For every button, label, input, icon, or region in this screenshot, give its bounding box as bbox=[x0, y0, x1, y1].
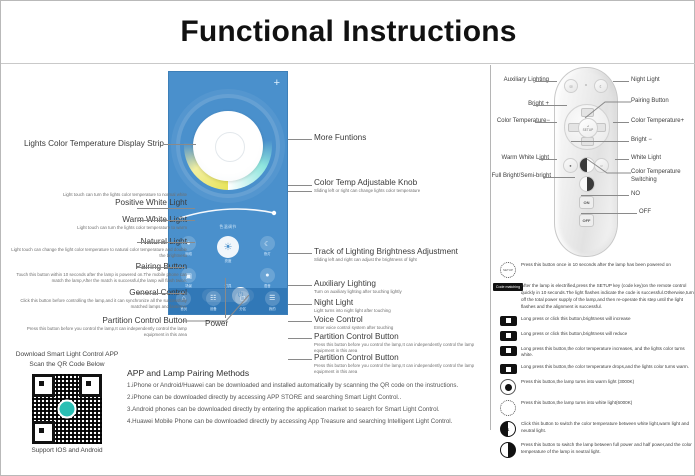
callout-night-light: Night Light Light turns into night light… bbox=[314, 298, 494, 314]
remote-label-bright-minus: Bright − bbox=[631, 137, 652, 145]
setup-circle-icon: SETUP bbox=[500, 262, 516, 278]
callout-sub: Light touch can change the light color t… bbox=[7, 247, 187, 259]
app-pairing-item: 3.Android phones can be downloaded direc… bbox=[127, 406, 477, 415]
qr-code-image[interactable] bbox=[32, 374, 102, 444]
callout-title: Partition Control Button bbox=[314, 353, 494, 363]
phone-icon-label: 亮度 bbox=[225, 259, 232, 263]
leader-line bbox=[288, 359, 312, 360]
leader-line bbox=[288, 253, 312, 254]
legend-text: Long press or click this button,brightne… bbox=[521, 315, 631, 323]
legend-text: Press this button once in 10 seconds aft… bbox=[521, 261, 671, 269]
leader-line bbox=[137, 267, 185, 268]
menu-icon: ☰ bbox=[265, 291, 280, 306]
key-icon bbox=[500, 346, 517, 356]
legend-item-switch-color-temperature: K Click this button to switch the color … bbox=[495, 420, 695, 437]
title-bar: Functional Instructions bbox=[1, 1, 695, 64]
remote-on-button[interactable]: ON bbox=[579, 196, 594, 209]
callout-title: Positive White Light bbox=[7, 198, 187, 208]
half-circle-k-icon: K bbox=[500, 421, 516, 437]
leader-line bbox=[288, 139, 312, 140]
key-icon bbox=[500, 331, 517, 341]
qr-head-line-2: Scan the QR Code Below bbox=[15, 360, 119, 370]
legend-icon-cell bbox=[495, 363, 521, 374]
legend-text: Long press this button,the color tempera… bbox=[521, 363, 689, 371]
legend-item-code-matching: Code matching After the lamp is electrif… bbox=[495, 282, 695, 311]
key-icon bbox=[500, 364, 517, 374]
page-title: Functional Instructions bbox=[180, 15, 516, 49]
callout-title: Night Light bbox=[314, 298, 494, 308]
callout-sub: Press this button before you control the… bbox=[7, 326, 187, 338]
key-icon bbox=[500, 316, 517, 326]
plus-icon[interactable]: + bbox=[274, 78, 280, 89]
legend-icon-cell bbox=[495, 330, 521, 341]
callout-sub: Touch this button within 10 seconds afte… bbox=[7, 272, 187, 284]
qr-finder-bottom-left bbox=[32, 421, 55, 444]
instruction-sheet: Functional Instructions + bbox=[0, 0, 695, 476]
qr-block: Download Smart Light Control APP Scan th… bbox=[15, 350, 119, 454]
phone-icon-label: 夜灯 bbox=[264, 252, 271, 256]
callout-more-funtions: More Funtions bbox=[314, 133, 484, 143]
remote-label-no: NO bbox=[631, 191, 640, 199]
legend-icon-cell bbox=[495, 441, 521, 458]
leader-line bbox=[288, 285, 312, 286]
tab-menu[interactable]: ☰ 我的 bbox=[258, 291, 288, 311]
tab-label: 我的 bbox=[269, 307, 276, 311]
callout-sub: Sliding left and right can adjust the br… bbox=[314, 257, 494, 263]
callout-positive-white-light: Light touch can turn the lights color te… bbox=[7, 192, 187, 208]
remote-led-indicator bbox=[585, 84, 587, 86]
legend-text: Click this button to switch the color te… bbox=[521, 420, 695, 435]
color-temp-knob[interactable] bbox=[180, 98, 276, 194]
legend-icon-cell bbox=[495, 378, 521, 395]
remote-night-light-button[interactable]: ☾ bbox=[594, 79, 608, 93]
leader-line bbox=[571, 141, 629, 142]
leader-line bbox=[613, 81, 629, 82]
legend-item-setup-button: SETUP Press this button once in 10 secon… bbox=[495, 261, 695, 278]
remote-label-off: OFF bbox=[639, 209, 651, 217]
callout-partition-control-button-1: Partition Control Button Press this butt… bbox=[314, 332, 494, 354]
legend-text: Press this button to switch the lamp bet… bbox=[521, 441, 695, 456]
leader-line bbox=[137, 293, 185, 294]
legend-item-brightness-reduce: Long press or click this button,brightne… bbox=[495, 330, 695, 341]
callout-title: Voice Control bbox=[314, 315, 494, 325]
knob-inner-ring bbox=[215, 132, 245, 162]
legend-item-color-temperature-drop: Long press this button,the color tempera… bbox=[495, 363, 695, 374]
legend-item-brightness-increase: Long press or click this button,brightne… bbox=[495, 315, 695, 326]
remote-full-bright-semi-bright-button[interactable] bbox=[579, 176, 595, 192]
callout-title: Partition Control Button bbox=[7, 316, 187, 326]
app-pairing-methods: APP and Lamp Pairing Methods 1.iPhone or… bbox=[127, 368, 477, 430]
legend-icon-cell bbox=[495, 345, 521, 356]
leader-line bbox=[288, 185, 312, 186]
callout-lights-color-temperature-display-strip: Lights Color Temperature Display Strip bbox=[9, 139, 164, 149]
callout-title: Lights Color Temperature Display Strip bbox=[9, 139, 164, 149]
callout-voice-control: Voice Control Enter voice control system… bbox=[314, 315, 494, 331]
filled-circle-icon bbox=[500, 379, 516, 395]
legend-icon-cell: K bbox=[495, 420, 521, 437]
legend-item-switch-full-half-power: Press this button to switch the lamp bet… bbox=[495, 441, 695, 458]
callout-track-of-lighting-brightness-adjustment: Track of Lighting Brightness Adjustment … bbox=[314, 247, 494, 263]
legend-list: SETUP Press this button once in 10 secon… bbox=[495, 261, 695, 462]
legend-text: Press this button,the lamp turns into wh… bbox=[521, 399, 632, 407]
callout-general-control: General Control Click this button before… bbox=[7, 288, 187, 310]
phone-icon-sun[interactable]: ☀ 亮度 bbox=[213, 236, 243, 263]
callout-natural-light: Natural Light Light touch can change the… bbox=[7, 237, 187, 259]
callout-sub: Light turns into night light after touch… bbox=[314, 308, 494, 314]
leader-line bbox=[535, 81, 557, 82]
leader-line bbox=[137, 220, 195, 221]
remote-warm-white-light-button[interactable]: ● bbox=[563, 158, 578, 173]
sun-icon: ☀ bbox=[217, 236, 239, 258]
remote-label-color-temperature-switching: Color Temperature Switching bbox=[631, 169, 681, 184]
callout-warm-white-light: Warm White Light Light touch can turn th… bbox=[7, 215, 187, 231]
leader-line bbox=[225, 278, 226, 318]
app-pairing-item: 1.iPhone or Android/Huawei can be downlo… bbox=[127, 382, 477, 391]
leader-line bbox=[581, 195, 629, 196]
setup-label: SETUP bbox=[583, 128, 594, 132]
app-pairing-heading: APP and Lamp Pairing Methods bbox=[127, 368, 477, 378]
remote-label-color-temperature-plus: Color Temperature+ bbox=[631, 118, 684, 126]
qr-foot: Support IOS and Android bbox=[15, 447, 119, 454]
leader-line bbox=[613, 122, 629, 123]
phone-icon-moon[interactable]: ☾ 夜灯 bbox=[252, 236, 282, 263]
app-pairing-item: 2.iPhone can be downloaded directly by a… bbox=[127, 394, 477, 403]
leader-line bbox=[581, 213, 637, 214]
leader-line bbox=[288, 338, 312, 339]
qr-finder-top-left bbox=[32, 374, 55, 397]
setup-label: SETUP bbox=[503, 268, 513, 272]
leader-line bbox=[585, 98, 631, 120]
leader-line bbox=[543, 177, 575, 178]
remote-control-diagram: ☉ ☾ ◕ SETUP ● bbox=[491, 63, 695, 263]
callout-partition-control-button-left: Partition Control Button Press this butt… bbox=[7, 316, 187, 338]
callout-title: Partition Control Button bbox=[314, 332, 494, 342]
legend-item-white-light-6000k: Press this button,the lamp turns into wh… bbox=[495, 399, 695, 416]
legend-icon-cell: SETUP bbox=[495, 261, 521, 278]
leader-line bbox=[164, 144, 196, 145]
callout-pairing-button: Pairing Button Touch this button within … bbox=[7, 262, 187, 284]
remote-off-button[interactable]: OFF bbox=[579, 214, 594, 227]
remote-label-full-bright-semi-bright: Full Bright/Semi-bright bbox=[491, 173, 551, 181]
phone-icon-mic[interactable]: ● 语音 bbox=[252, 268, 282, 288]
remote-pairing-setup-button[interactable]: ◕ SETUP bbox=[578, 118, 598, 138]
leader-line bbox=[587, 159, 631, 177]
leader-line bbox=[137, 242, 195, 243]
callout-sub: Sliding left or right can change lights … bbox=[314, 188, 486, 194]
phone-icon-bulb[interactable]: ● 灯具 bbox=[213, 268, 243, 288]
leader-line bbox=[539, 159, 557, 160]
callout-sub: Light touch can turn the lights color te… bbox=[7, 225, 187, 231]
knob-face[interactable] bbox=[193, 111, 263, 181]
leader-line bbox=[288, 304, 312, 305]
code-matching-tag: Code matching bbox=[493, 283, 523, 291]
legend-icon-cell bbox=[495, 315, 521, 326]
callout-power: Power bbox=[205, 319, 228, 329]
legend-text: Press this button,the lamp turns into wa… bbox=[521, 378, 634, 386]
callout-auxiliary-lighting: Auxiliary Lighting Turn on auxiliary lig… bbox=[314, 279, 494, 295]
remote-label-pairing-button: Pairing Button bbox=[631, 98, 669, 106]
dotted-circle-icon bbox=[500, 400, 516, 416]
callout-title: Auxiliary Lighting bbox=[314, 279, 494, 289]
callout-title: Track of Lighting Brightness Adjustment bbox=[314, 247, 494, 257]
legend-text: Long press this button,the color tempera… bbox=[521, 345, 695, 360]
remote-label-white-light: White Light bbox=[631, 155, 661, 163]
body-area: + 色温调节 bbox=[1, 63, 695, 476]
legend-item-color-temperature-increase: Long press this button,the color tempera… bbox=[495, 345, 695, 360]
leader-line bbox=[535, 122, 557, 123]
qr-head-line-1: Download Smart Light Control APP bbox=[15, 350, 119, 360]
legend-item-warm-light-3000k: Press this button,the lamp turns into wa… bbox=[495, 378, 695, 395]
qr-center-logo bbox=[58, 399, 77, 418]
leader-line bbox=[533, 105, 567, 106]
moon-icon: ☾ bbox=[260, 236, 275, 251]
callout-sub: Turn on auxiliary lighting after touchin… bbox=[314, 289, 494, 295]
app-pairing-item: 4.Huawei Mobile Phone can be downloaded … bbox=[127, 418, 477, 427]
callout-color-temp-adjustable-knob: Color Temp Adjustable Knob Sliding left … bbox=[314, 178, 486, 194]
leader-line bbox=[288, 191, 312, 192]
right-column: ☉ ☾ ◕ SETUP ● bbox=[491, 63, 695, 476]
callout-sub: Enter voice control system after touchin… bbox=[314, 325, 494, 331]
legend-text: After the lamp is electrified,press the … bbox=[521, 282, 695, 311]
leader-line bbox=[288, 321, 312, 322]
callout-title: More Funtions bbox=[314, 133, 484, 143]
remote-auxiliary-lighting-button[interactable]: ☉ bbox=[564, 79, 578, 93]
mic-icon: ● bbox=[260, 268, 275, 283]
remote-label-night-light: Night Light bbox=[631, 77, 660, 85]
half-circle-icon bbox=[500, 442, 516, 458]
legend-icon-cell: Code matching bbox=[495, 282, 521, 291]
callout-title: Power bbox=[205, 319, 228, 329]
callout-sub: Click this button before controlling the… bbox=[7, 298, 187, 310]
legend-text: Long press or click this button,brightne… bbox=[521, 330, 627, 338]
qr-finder-top-right bbox=[79, 374, 102, 397]
leader-line bbox=[137, 208, 195, 209]
left-column: + 色温调节 bbox=[1, 63, 490, 476]
callout-title: Color Temp Adjustable Knob bbox=[314, 178, 486, 188]
legend-icon-cell bbox=[495, 399, 521, 416]
